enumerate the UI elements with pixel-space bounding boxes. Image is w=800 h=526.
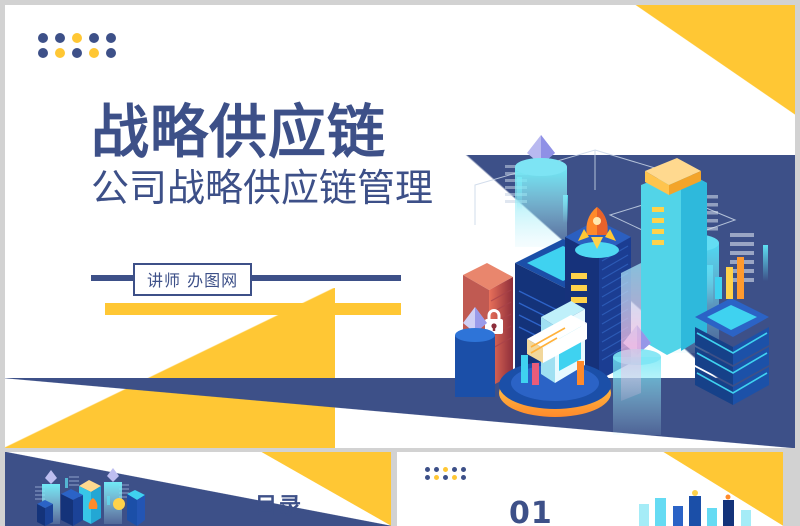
dot-yellow xyxy=(89,48,99,58)
title-block: 战略供应链 公司战略供应链管理 xyxy=(91,103,561,209)
decor-dot-grid xyxy=(38,33,116,58)
dot-blue xyxy=(106,48,116,58)
dot-blue xyxy=(461,475,466,480)
page-title: 战略供应链 xyxy=(91,103,561,161)
dot-yellow xyxy=(434,475,439,480)
decor-yellow-bar xyxy=(105,303,401,315)
dot-blue xyxy=(38,33,48,43)
thumbnail-city-illustration xyxy=(23,464,158,526)
dot-row xyxy=(38,48,116,58)
thumbnail-strip: 目录 01 xyxy=(5,452,795,526)
dot-blue xyxy=(72,48,82,58)
thumbnail-contents[interactable]: 目录 xyxy=(5,452,391,526)
presentation-canvas: ฿ xyxy=(0,0,800,526)
decor-dot-grid xyxy=(425,467,466,480)
dot-blue xyxy=(425,467,430,472)
page-subtitle: 公司战略供应链管理 xyxy=(91,169,561,209)
thumbnail-city-illustration xyxy=(629,490,779,526)
speaker-row: 讲师 办图网 xyxy=(91,263,401,293)
dot-blue xyxy=(452,467,457,472)
speaker-label: 讲师 办图网 xyxy=(133,263,252,296)
dot-blue xyxy=(89,33,99,43)
thumbnail-label: 目录 xyxy=(255,488,303,520)
thumbnail-section-one[interactable]: 01 xyxy=(397,452,783,526)
dot-row xyxy=(425,467,466,472)
dot-yellow xyxy=(452,475,457,480)
dot-blue xyxy=(425,475,430,480)
dot-blue xyxy=(434,467,439,472)
dot-row xyxy=(425,475,466,480)
main-slide[interactable]: ฿ xyxy=(5,5,795,448)
dot-yellow xyxy=(72,33,82,43)
dot-row xyxy=(38,33,116,43)
dot-blue xyxy=(443,475,448,480)
thumbnail-section-number: 01 xyxy=(509,496,553,526)
dot-blue xyxy=(461,467,466,472)
decor-triangle-top-right xyxy=(635,5,795,115)
dot-yellow xyxy=(55,48,65,58)
dot-blue xyxy=(38,48,48,58)
dot-blue xyxy=(106,33,116,43)
dot-yellow xyxy=(443,467,448,472)
dot-blue xyxy=(55,33,65,43)
